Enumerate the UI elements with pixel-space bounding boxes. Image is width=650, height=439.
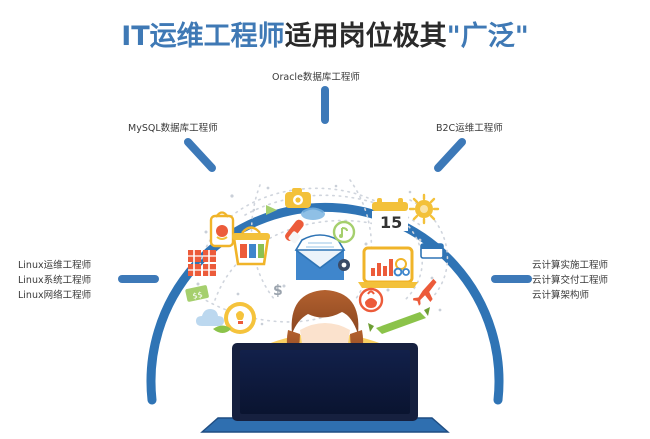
shopping-bag-icon <box>211 213 233 247</box>
laptop-chart-icon <box>358 248 418 288</box>
envelope-mail-icon <box>296 235 344 280</box>
piggy-bank-icon <box>360 289 382 311</box>
special-ribbon-icon: SPECIAL <box>368 307 430 334</box>
cloud-icon <box>196 309 224 326</box>
svg-text:$$: $$ <box>192 290 204 301</box>
label-cloud-architect[interactable]: 云计算架构师 <box>532 288 608 303</box>
label-group-cloud[interactable]: 云计算实施工程师 云计算交付工程师 云计算架构师 <box>532 258 608 303</box>
calendar-icon: 15 <box>372 198 408 232</box>
label-cloud-implementation[interactable]: 云计算实施工程师 <box>532 258 608 273</box>
circle-dot-icon <box>338 259 350 271</box>
label-linux-system[interactable]: Linux系统工程师 <box>18 273 91 288</box>
connector-upper-right <box>438 142 462 168</box>
music-note-icon <box>334 222 354 242</box>
label-mysql-dba[interactable]: MySQL数据库工程师 <box>128 121 218 136</box>
label-oracle-dba[interactable]: Oracle数据库工程师 <box>272 70 360 85</box>
sun-icon <box>410 195 438 223</box>
window-icon <box>421 244 443 258</box>
connector-upper-left <box>188 142 212 168</box>
camera-icon <box>285 188 311 208</box>
label-linux-network[interactable]: Linux网络工程师 <box>18 288 91 303</box>
hanger-icon <box>301 208 325 220</box>
label-cloud-delivery[interactable]: 云计算交付工程师 <box>532 273 608 288</box>
diagram-graphic: $$ $ <box>0 0 650 439</box>
dollar-sign-icon: $ <box>273 283 283 299</box>
calendar-day-number: 15 <box>380 213 402 232</box>
label-b2c-ops[interactable]: B2C运维工程师 <box>436 121 503 136</box>
label-linux-ops[interactable]: Linux运维工程师 <box>18 258 91 273</box>
label-group-linux[interactable]: Linux运维工程师 Linux系统工程师 Linux网络工程师 <box>18 258 91 303</box>
poster-canvas: IT运维工程师适用岗位极其"广泛" <box>0 0 650 439</box>
svg-text:$: $ <box>273 283 283 299</box>
money-bill-icon: $$ <box>185 285 209 302</box>
